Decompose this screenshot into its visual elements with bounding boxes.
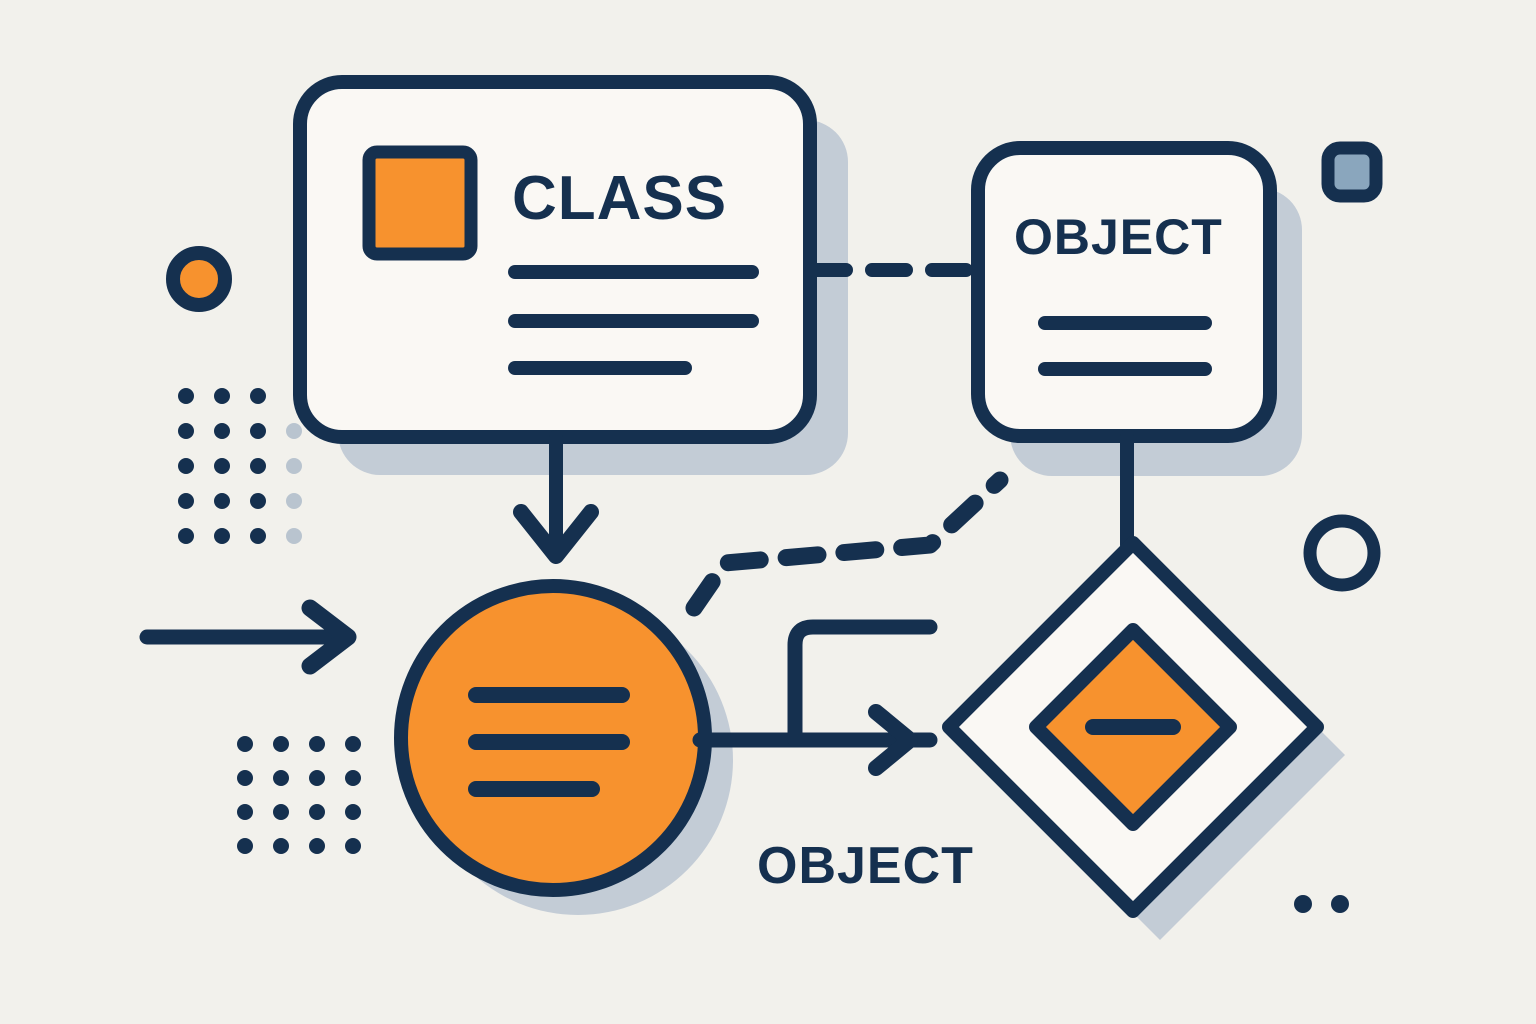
class-card-title: CLASS	[512, 163, 727, 234]
grid-dot	[273, 770, 289, 786]
grid-dot	[214, 528, 230, 544]
grid-dot	[178, 528, 194, 544]
grid-dot	[309, 770, 325, 786]
object-diamond-caption: OBJECT	[757, 836, 974, 896]
grid-dot	[250, 458, 266, 474]
grid-dot	[273, 838, 289, 854]
dot-grid-bottom-left	[237, 736, 361, 854]
grid-dot	[178, 458, 194, 474]
corner-dot	[1331, 895, 1349, 913]
corner-dot	[1294, 895, 1312, 913]
grid-dot	[250, 528, 266, 544]
grid-dot	[345, 770, 361, 786]
object-card-body[interactable]	[978, 148, 1270, 436]
grid-dot	[309, 736, 325, 752]
grid-dot	[214, 458, 230, 474]
rounded-square-badge-shape	[1328, 148, 1376, 196]
diagram-canvas: CLASS OBJECT OBJECT	[0, 0, 1536, 1024]
grid-dot-muted	[286, 528, 302, 544]
connector-circle-to-object-dashed-curve	[694, 480, 1000, 608]
grid-dot	[237, 838, 253, 854]
grid-dot	[214, 388, 230, 404]
class-card[interactable]	[300, 82, 810, 437]
instance-circle[interactable]	[401, 586, 705, 890]
grid-dot	[237, 770, 253, 786]
rounded-square-badge-top-right	[1328, 148, 1376, 196]
grid-dot	[345, 736, 361, 752]
grid-dot	[250, 423, 266, 439]
grid-dot	[250, 493, 266, 509]
grid-dot	[214, 423, 230, 439]
object-diamond[interactable]	[949, 543, 1317, 911]
object-card-title: OBJECT	[1014, 208, 1223, 266]
grid-dot	[345, 838, 361, 854]
grid-dot	[273, 736, 289, 752]
ring-outline-shape	[1310, 521, 1374, 585]
grid-dot-muted	[286, 493, 302, 509]
grid-dot	[309, 838, 325, 854]
grid-dot	[178, 423, 194, 439]
dashed-curve-path	[694, 480, 1000, 608]
ring-outline-right	[1310, 521, 1374, 585]
grid-dot	[237, 804, 253, 820]
connector-circle-to-diamond-arrow	[700, 627, 930, 768]
class-orange-square-icon	[369, 152, 471, 254]
dot-pair-bottom-right	[1294, 895, 1349, 913]
dot-grid-top-left	[178, 388, 302, 544]
incoming-left-arrow	[147, 608, 348, 666]
grid-dot-muted	[286, 458, 302, 474]
grid-dot	[214, 493, 230, 509]
grid-dot	[345, 804, 361, 820]
grid-dot	[178, 493, 194, 509]
grid-dot	[237, 736, 253, 752]
grid-dot	[178, 388, 194, 404]
object-card[interactable]	[978, 148, 1270, 436]
grid-dot	[309, 804, 325, 820]
grid-dot-muted	[286, 423, 302, 439]
orange-dot-badge	[173, 253, 225, 305]
elbow-branch-line	[795, 627, 930, 740]
grid-dot	[273, 804, 289, 820]
grid-dot	[250, 388, 266, 404]
orange-dot-badge-shape	[173, 253, 225, 305]
